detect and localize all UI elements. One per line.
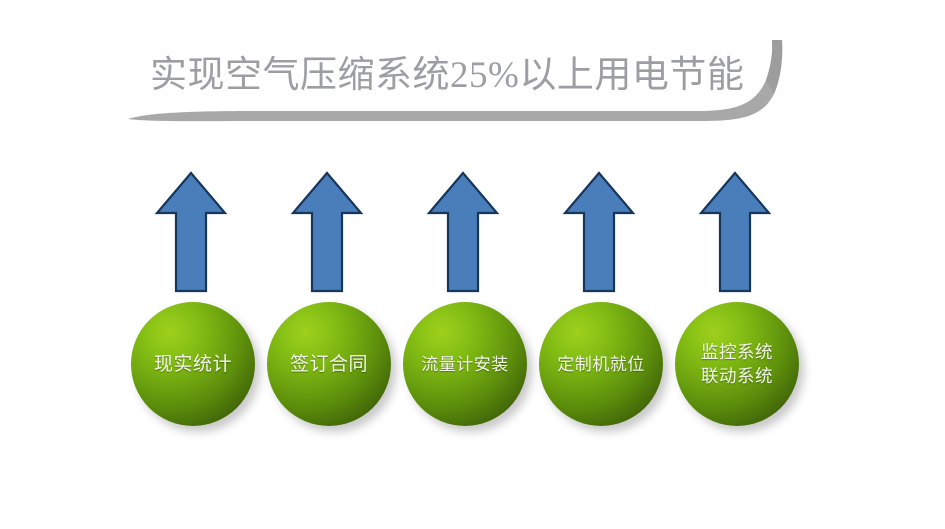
process-node-label-3: 流量计安装 <box>421 352 509 377</box>
up-arrow-icon-2 <box>290 170 364 294</box>
swoosh-right-tip <box>766 40 782 94</box>
up-arrow-icon-3 <box>426 170 500 294</box>
up-arrow-icon-5 <box>698 170 772 294</box>
process-node-3[interactable]: 流量计安装 <box>403 302 527 426</box>
slide-canvas: 实现空气压缩系统25%以上用电节能 现实统计 签订合同 流量计安装 定制机就位 … <box>0 0 945 529</box>
up-arrow-icon-4 <box>562 170 636 294</box>
title-band: 实现空气压缩系统25%以上用电节能 <box>0 0 945 160</box>
process-node-5[interactable]: 监控系统 联动系统 <box>675 302 799 426</box>
process-node-label-4: 定制机就位 <box>557 352 645 377</box>
process-node-label-5: 监控系统 联动系统 <box>701 340 773 388</box>
up-arrow-icon-1 <box>154 170 228 294</box>
process-node-1[interactable]: 现实统计 <box>131 302 255 426</box>
process-node-label-1: 现实统计 <box>154 352 232 377</box>
page-title: 实现空气压缩系统25%以上用电节能 <box>150 48 750 104</box>
process-node-2[interactable]: 签订合同 <box>267 302 391 426</box>
process-node-4[interactable]: 定制机就位 <box>539 302 663 426</box>
process-node-label-2: 签订合同 <box>290 352 368 377</box>
